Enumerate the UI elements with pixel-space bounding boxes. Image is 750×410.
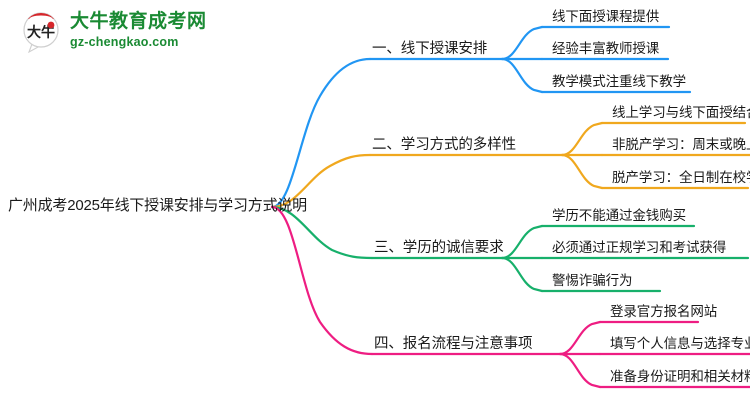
leaf-node-2-1[interactable]: 线上学习与线下面授结合 (612, 104, 750, 122)
leaf-node-2-2[interactable]: 非脱产学习：周末或晚上上课 (612, 136, 750, 154)
branch-link-4 (272, 207, 750, 387)
leaf-node-3-1[interactable]: 学历不能通过金钱购买 (552, 207, 686, 225)
branch-node-3[interactable]: 三、学历的诚信要求 (374, 239, 504, 258)
leaf-node-3-2[interactable]: 必须通过正规学习和考试获得 (552, 239, 726, 257)
leaf-node-1-2[interactable]: 经验丰富教师授课 (552, 40, 659, 58)
leaf-node-3-3[interactable]: 警惕诈骗行为 (552, 272, 632, 290)
leaf-node-4-2[interactable]: 填写个人信息与选择专业 (610, 335, 750, 353)
leaf-node-2-3[interactable]: 脱产学习：全日制在校学习 (612, 169, 750, 187)
leaf-node-1-3[interactable]: 教学模式注重线下教学 (552, 73, 686, 91)
leaf-node-4-1[interactable]: 登录官方报名网站 (610, 303, 717, 321)
leaf-node-1-1[interactable]: 线下面授课程提供 (552, 8, 659, 26)
branch-node-2[interactable]: 二、学习方式的多样性 (372, 136, 516, 155)
branch-node-4[interactable]: 四、报名流程与注意事项 (374, 335, 532, 354)
leaf-node-4-3[interactable]: 准备身份证明和相关材料 (610, 368, 750, 386)
mindmap-canvas: 大牛 大牛教育成考网 gz-chengkao.com (0, 0, 750, 410)
root-node[interactable]: 广州成考2025年线下授课安排与学习方式说明 (8, 196, 307, 216)
branch-node-1[interactable]: 一、线下授课安排 (372, 40, 487, 59)
